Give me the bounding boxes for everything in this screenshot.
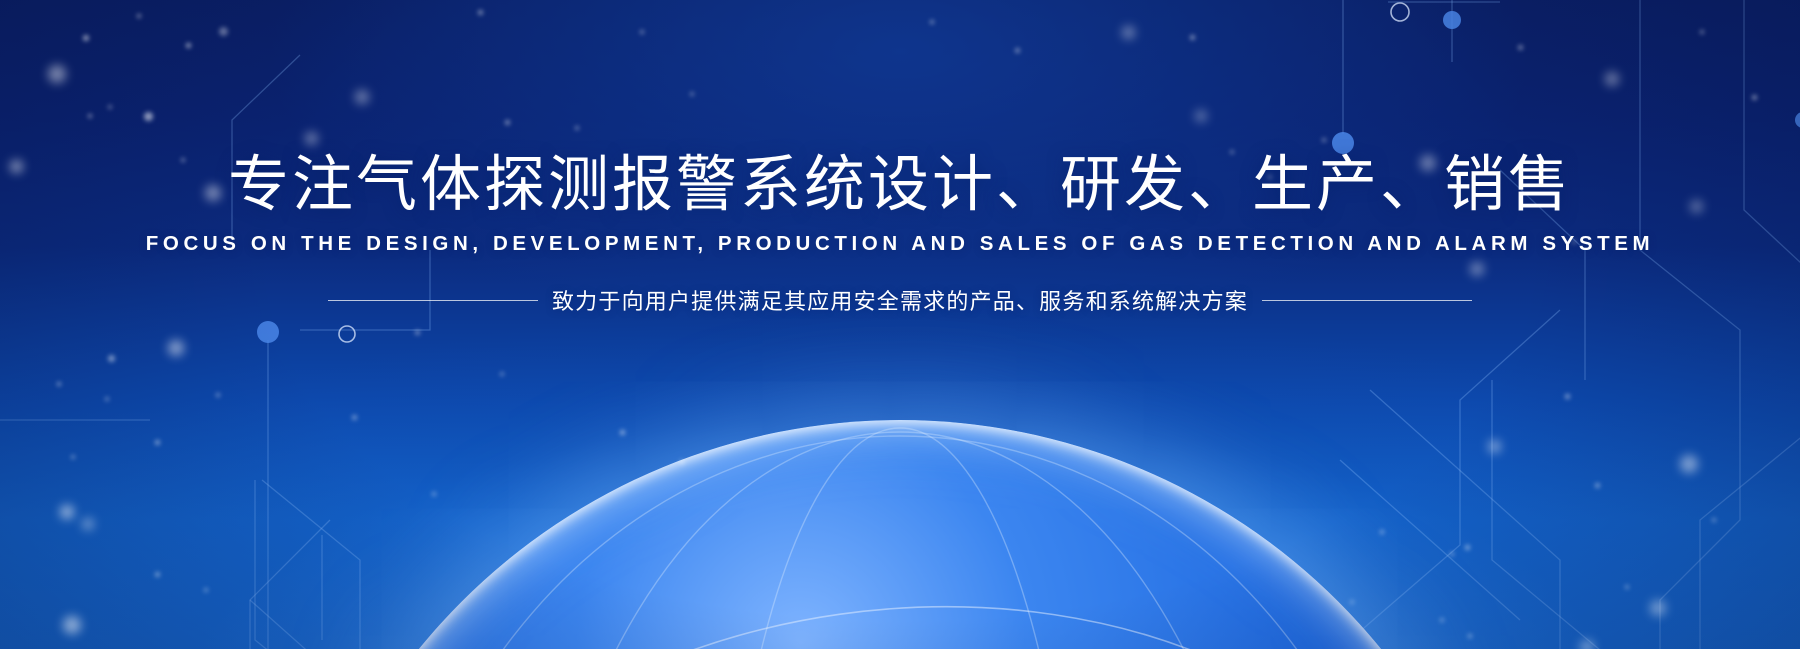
banner-copy: 专注气体探测报警系统设计、研发、生产、销售 FOCUS ON THE DESIG… — [0, 150, 1800, 316]
page-title: 专注气体探测报警系统设计、研发、生产、销售 — [0, 150, 1800, 218]
tagline-rule-right — [1262, 300, 1472, 301]
tagline-row: 致力于向用户提供满足其应用安全需求的产品、服务和系统解决方案 — [0, 284, 1800, 316]
network-globe — [280, 420, 1520, 649]
hero-banner: 专注气体探测报警系统设计、研发、生产、销售 FOCUS ON THE DESIG… — [0, 0, 1800, 649]
page-subtitle-english: FOCUS ON THE DESIGN, DEVELOPMENT, PRODUC… — [0, 232, 1800, 256]
tagline-rule-left — [328, 300, 538, 301]
tagline-text: 致力于向用户提供满足其应用安全需求的产品、服务和系统解决方案 — [552, 284, 1248, 316]
